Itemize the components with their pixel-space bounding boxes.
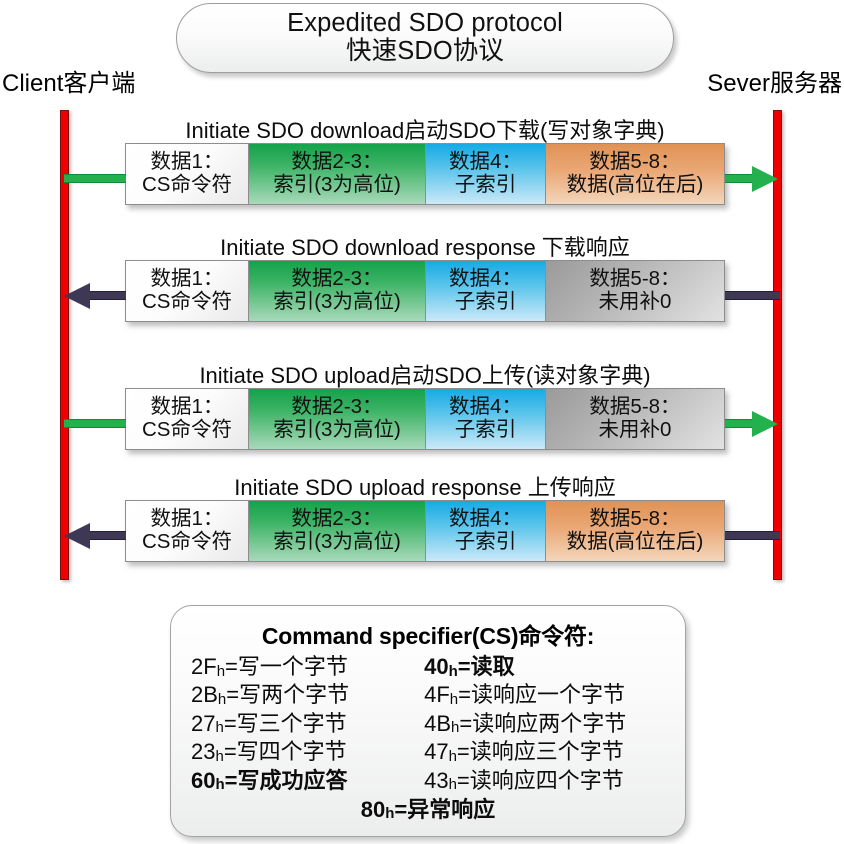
legend-code: 4B (424, 711, 451, 736)
frame-cell-description: 未用补0 (599, 419, 672, 442)
legend-hex-suffix: h (449, 776, 457, 793)
frame-cell-byte-range: 数据5-8： (589, 396, 680, 419)
frame-cell-description: 索引(3为高位) (273, 291, 401, 314)
frame-cell-byte-range: 数据4： (449, 508, 522, 531)
frame-cell-byte-range: 数据5-8： (589, 508, 680, 531)
legend-hex-suffix: h (449, 663, 458, 680)
legend-hex-suffix: h (218, 691, 226, 708)
frame-cell: 数据5-8：未用补0 (546, 389, 724, 449)
message-title: Initiate SDO download response 下载响应 (125, 230, 725, 262)
frame-cell-byte-range: 数据1： (151, 151, 224, 174)
frame-cell-description: 子索引 (455, 291, 517, 314)
frame-cell: 数据2-3：索引(3为高位) (249, 501, 426, 561)
message-frame: 数据1：CS命令符数据2-3：索引(3为高位)数据4：子索引数据5-8：未用补0 (125, 388, 725, 450)
frame-cell-byte-range: 数据2-3： (291, 151, 382, 174)
frame-cell: 数据4：子索引 (426, 261, 546, 321)
legend-hex-suffix: h (451, 719, 459, 736)
message-title: Initiate SDO upload response 上传响应 (125, 470, 725, 502)
legend-hex-suffix: h (450, 691, 458, 708)
frame-cell-description: CS命令符 (142, 174, 232, 197)
frame-cell: 数据4：子索引 (426, 389, 546, 449)
arrow-head-icon (752, 166, 778, 192)
arrow-stub (725, 531, 780, 540)
frame-cell-byte-range: 数据2-3： (291, 268, 382, 291)
legend-hex-suffix: h (449, 748, 457, 765)
frame-cell-byte-range: 数据4： (449, 396, 522, 419)
arrow-head-icon (752, 411, 778, 437)
frame-cell: 数据1：CS命令符 (126, 144, 249, 204)
legend-description: =读响应一个字节 (458, 682, 625, 707)
message-frame: 数据1：CS命令符数据2-3：索引(3为高位)数据4：子索引数据5-8：未用补0 (125, 260, 725, 322)
legend-item-read: 4Bh=读响应两个字节 (424, 710, 671, 738)
legend-description: =写成功应答 (225, 768, 348, 793)
legend-description: =读取 (458, 654, 515, 679)
legend-description: =读响应三个字节 (457, 739, 624, 764)
frame-cell-description: 数据(高位在后) (567, 174, 704, 197)
frame-cell-byte-range: 数据1： (151, 508, 224, 531)
legend-item-write: 2Bh=写两个字节 (191, 681, 424, 709)
frame-cell-byte-range: 数据1： (151, 396, 224, 419)
frame-cell-byte-range: 数据5-8： (589, 268, 680, 291)
frame-cell-description: CS命令符 (142, 531, 232, 554)
legend-hex-suffix: h (385, 805, 394, 822)
legend-description: =读响应四个字节 (457, 768, 624, 793)
arrow-stub (725, 291, 780, 300)
command-specifier-legend: Command specifier(CS)命令符: 2Fh=写一个字节2Bh=写… (170, 605, 686, 837)
sdo-protocol-diagram: Expedited SDO protocol 快速SDO协议 Client客户端… (0, 0, 844, 844)
arrow-shaft (725, 174, 755, 183)
frame-cell-description: 子索引 (455, 419, 517, 442)
frame-cell-description: 未用补0 (599, 291, 672, 314)
legend-item-read: 43h=读响应四个字节 (424, 767, 671, 795)
legend-code: 47 (424, 739, 448, 764)
frame-cell: 数据2-3：索引(3为高位) (249, 144, 426, 204)
frame-cell-description: 子索引 (455, 531, 517, 554)
frame-cell-description: 索引(3为高位) (273, 174, 401, 197)
frame-cell-byte-range: 数据1： (151, 268, 224, 291)
frame-cell-description: CS命令符 (142, 419, 232, 442)
arrow-stub (64, 419, 126, 428)
legend-hex-suffix: h (217, 663, 225, 680)
frame-cell: 数据1：CS命令符 (126, 501, 249, 561)
frame-cell-description: 索引(3为高位) (273, 419, 401, 442)
legend-description: =写两个字节 (226, 682, 349, 707)
frame-cell-description: 子索引 (455, 174, 517, 197)
legend-item-abort: 80h=异常响应 (185, 796, 671, 824)
legend-item-read: 40h=读取 (424, 653, 671, 681)
legend-code: 2F (191, 654, 217, 679)
legend-column-read: 40h=读取4Fh=读响应一个字节4Bh=读响应两个字节47h=读响应三个字节4… (424, 653, 671, 795)
frame-cell: 数据1：CS命令符 (126, 389, 249, 449)
legend-item-read: 4Fh=读响应一个字节 (424, 681, 671, 709)
server-label: Sever服务器 (707, 63, 842, 98)
legend-item-write: 23h=写四个字节 (191, 738, 424, 766)
arrow-head-icon (64, 283, 90, 309)
legend-item-write: 60h=写成功应答 (191, 767, 424, 795)
legend-code: 40 (424, 654, 448, 679)
frame-cell-byte-range: 数据2-3： (291, 508, 382, 531)
legend-title: Command specifier(CS)命令符: (185, 617, 671, 651)
legend-item-write: 27h=写三个字节 (191, 710, 424, 738)
frame-cell: 数据5-8：未用补0 (546, 261, 724, 321)
legend-code: 60 (191, 768, 215, 793)
legend-item-read: 47h=读响应三个字节 (424, 738, 671, 766)
diagram-title-zh: 快速SDO协议 (346, 38, 504, 66)
legend-description: =写一个字节 (225, 654, 348, 679)
arrow-stub (64, 174, 126, 183)
message-frame: 数据1：CS命令符数据2-3：索引(3为高位)数据4：子索引数据5-8：数据(高… (125, 143, 725, 205)
frame-cell-byte-range: 数据4： (449, 268, 522, 291)
legend-code: 80 (361, 797, 385, 822)
legend-hex-suffix: h (215, 719, 223, 736)
frame-cell: 数据5-8：数据(高位在后) (546, 144, 724, 204)
frame-cell: 数据2-3：索引(3为高位) (249, 261, 426, 321)
frame-cell: 数据5-8：数据(高位在后) (546, 501, 724, 561)
legend-column-write: 2Fh=写一个字节2Bh=写两个字节27h=写三个字节23h=写四个字节60h=… (191, 653, 424, 795)
legend-description: =异常响应 (394, 797, 495, 822)
frame-cell: 数据4：子索引 (426, 501, 546, 561)
client-label: Client客户端 (2, 63, 135, 98)
legend-code: 2B (191, 682, 218, 707)
frame-cell: 数据4：子索引 (426, 144, 546, 204)
diagram-title-en: Expedited SDO protocol (287, 10, 563, 38)
arrow-shaft (725, 419, 755, 428)
legend-hex-suffix: h (215, 748, 223, 765)
legend-code: 4F (424, 682, 450, 707)
arrow-head-icon (64, 523, 90, 549)
legend-description: =写三个字节 (224, 711, 347, 736)
message-title: Initiate SDO upload启动SDO上传(读对象字典) (125, 358, 725, 390)
legend-hex-suffix: h (215, 776, 224, 793)
message-title: Initiate SDO download启动SDO下载(写对象字典) (125, 113, 725, 145)
frame-cell-description: 索引(3为高位) (273, 531, 401, 554)
legend-code: 23 (191, 739, 215, 764)
message-frame: 数据1：CS命令符数据2-3：索引(3为高位)数据4：子索引数据5-8：数据(高… (125, 500, 725, 562)
diagram-title-box: Expedited SDO protocol 快速SDO协议 (176, 3, 674, 73)
legend-footer-abort: 80h=异常响应 (185, 796, 671, 824)
legend-description: =读响应两个字节 (459, 711, 626, 736)
frame-cell-description: 数据(高位在后) (567, 531, 704, 554)
legend-code: 43 (424, 768, 448, 793)
legend-columns: 2Fh=写一个字节2Bh=写两个字节27h=写三个字节23h=写四个字节60h=… (185, 653, 671, 795)
frame-cell: 数据1：CS命令符 (126, 261, 249, 321)
frame-cell-byte-range: 数据4： (449, 151, 522, 174)
frame-cell-byte-range: 数据2-3： (291, 396, 382, 419)
frame-cell: 数据2-3：索引(3为高位) (249, 389, 426, 449)
legend-code: 27 (191, 711, 215, 736)
legend-description: =写四个字节 (224, 739, 347, 764)
frame-cell-byte-range: 数据5-8： (589, 151, 680, 174)
frame-cell-description: CS命令符 (142, 291, 232, 314)
legend-item-write: 2Fh=写一个字节 (191, 653, 424, 681)
